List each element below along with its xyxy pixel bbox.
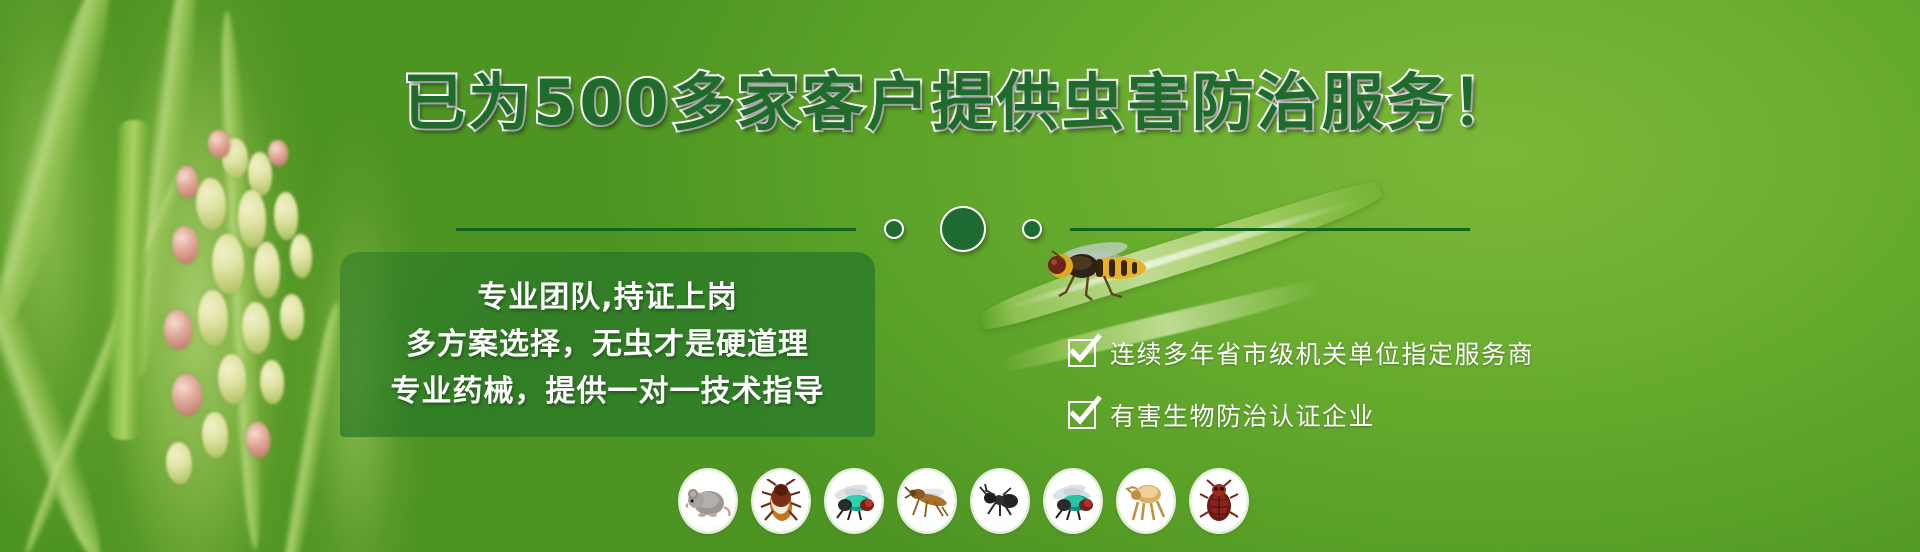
ant-icon[interactable] <box>972 470 1028 532</box>
headline-text: 已为500多家客户提供虫害防治服务！ <box>403 66 1516 139</box>
list-item: 有害生物防治认证企业 <box>1068 397 1534 433</box>
divider-rule-left <box>456 228 856 231</box>
headline-divider <box>400 206 1525 252</box>
mosquito-icon[interactable] <box>899 470 955 532</box>
divider-rule-right <box>1070 228 1470 231</box>
selling-point-line-3: 专业药械，提供一对一技术指导 <box>391 375 825 408</box>
selling-point-line-2: 多方案选择，无虫才是硬道理 <box>406 328 809 361</box>
checkbox-checked-icon <box>1068 339 1096 367</box>
pest-control-hero-banner: 已为500多家客户提供虫害防治服务！ 专业团队,持证上岗 多方案选择，无虫才是硬… <box>0 0 1920 552</box>
divider-dot-large <box>940 206 986 252</box>
page-title: 已为500多家客户提供虫害防治服务！ <box>0 72 1920 134</box>
fly-icon[interactable] <box>826 470 882 532</box>
list-item: 连续多年省市级机关单位指定服务商 <box>1068 335 1534 371</box>
checkbox-checked-icon <box>1068 401 1096 429</box>
divider-dot-small-right <box>1022 219 1042 239</box>
bedbug-icon[interactable] <box>1191 470 1247 532</box>
credential-text: 连续多年省市级机关单位指定服务商 <box>1110 335 1534 371</box>
mouse-icon[interactable] <box>680 470 736 532</box>
pest-icon-strip <box>680 470 1247 532</box>
divider-dot-small-left <box>884 219 904 239</box>
blowfly-icon[interactable] <box>1045 470 1101 532</box>
credential-text: 有害生物防治认证企业 <box>1110 397 1375 433</box>
flea-icon[interactable] <box>1118 470 1174 532</box>
credentials-list: 连续多年省市级机关单位指定服务商 有害生物防治认证企业 <box>1068 335 1534 433</box>
selling-point-line-1: 专业团队,持证上岗 <box>477 281 737 314</box>
selling-points-panel: 专业团队,持证上岗 多方案选择，无虫才是硬道理 专业药械，提供一对一技术指导 <box>340 252 875 437</box>
cockroach-icon[interactable] <box>753 470 809 532</box>
divider-dots <box>856 206 1070 252</box>
